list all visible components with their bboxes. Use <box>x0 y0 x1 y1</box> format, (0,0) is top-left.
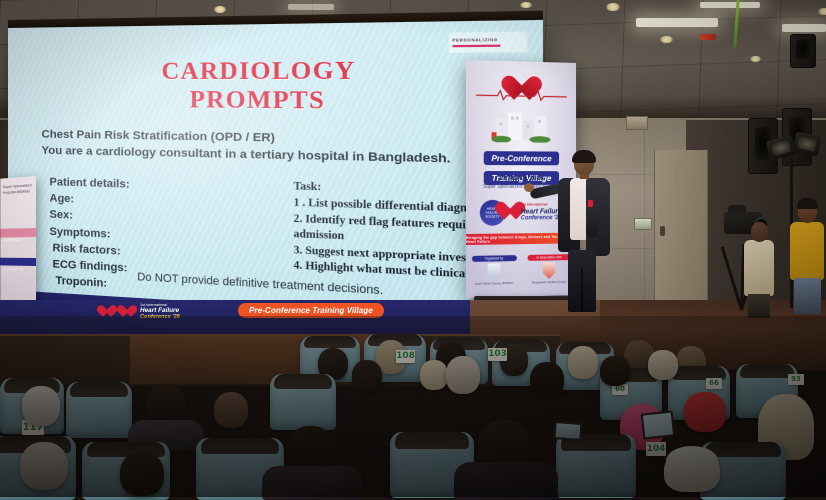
audience-area: 103 108 117 60 66 93 <box>0 316 826 497</box>
ceiling-downlight <box>606 3 620 11</box>
slide-subtitle: Chest Pain Risk Stratification (OPD / ER… <box>42 126 518 169</box>
studio-light-icon <box>792 132 822 157</box>
seat-headrest <box>740 364 795 378</box>
seat-number-label: 104 <box>646 442 666 456</box>
ceiling-downlight <box>818 8 826 15</box>
seat-headrest <box>395 432 469 449</box>
audience-shoulders <box>262 466 362 500</box>
audience-head <box>568 346 598 379</box>
seat-headrest <box>70 382 128 397</box>
ceiling-loudspeaker <box>790 34 816 68</box>
seat-headrest <box>304 336 357 348</box>
ceiling-exit-indicator <box>700 34 716 40</box>
ceiling-downlight <box>214 6 226 13</box>
tripod-leg <box>721 247 743 311</box>
audience-head <box>214 392 248 428</box>
seat-headrest <box>201 438 278 454</box>
slide-title-line2: PROMPTS <box>190 86 326 114</box>
seat-number-label: 103 <box>488 348 507 361</box>
wall-exit-sign <box>634 218 652 230</box>
left-banner-pink-label: Heart Failure <box>0 238 22 242</box>
camera-viewfinder <box>728 205 746 213</box>
audience-head <box>120 452 164 496</box>
audience-shoulders <box>454 462 558 500</box>
footer-caption: Organised by <box>471 255 516 262</box>
hospital-building-icon <box>492 106 552 142</box>
audience-head <box>648 350 678 380</box>
standee-footer-item: Organised by Heart Failure Society, BSMM… <box>471 255 516 286</box>
audience-laptop-screen[interactable] <box>553 421 582 441</box>
audience-head <box>530 362 564 398</box>
wall-vent-grille <box>626 116 648 130</box>
brand-watermark-bar <box>452 45 500 48</box>
ceiling-downlight <box>520 2 532 8</box>
slide-brand-watermark: PERSONALIZING <box>449 32 528 53</box>
audience-head-grey-hair <box>20 442 68 490</box>
seat-headrest <box>705 442 781 457</box>
left-banner-top-text: Super Specialized Hospital BSMMU <box>3 182 36 196</box>
audience-tablet-device[interactable] <box>641 410 676 439</box>
standee-pill-line1: Pre-Conference <box>484 151 560 165</box>
seat[interactable] <box>556 434 636 498</box>
left-banner-blue-bar: Conference '26 <box>0 258 36 266</box>
speaker-hand <box>524 183 534 192</box>
audience-head <box>352 360 382 392</box>
ecg-line-icon <box>476 88 567 102</box>
seat-number-label: 108 <box>396 350 415 363</box>
left-banner-blue-label: Conference '26 <box>0 267 23 271</box>
crew-jeans <box>794 278 821 314</box>
seat[interactable] <box>270 374 336 430</box>
crew-torso <box>744 240 774 296</box>
ceiling-panel-light <box>700 2 760 8</box>
crew-head <box>751 222 768 242</box>
conference-hall-scene: CARDIOLOGY PROMPTS PERSONALIZING Chest P… <box>0 0 826 497</box>
ceiling-downlight <box>750 56 761 62</box>
seat-number-label: 93 <box>788 374 804 385</box>
ceiling-downlight <box>660 36 673 43</box>
heart-icon <box>499 202 520 223</box>
door-handle[interactable] <box>660 226 665 236</box>
speaker-presenter <box>552 152 614 316</box>
left-banner-pink-bar: Heart Failure <box>0 228 36 237</box>
audience-head-hijab <box>446 356 480 394</box>
crew-legs <box>748 294 770 318</box>
speaker-hair <box>572 150 596 163</box>
audience-head-red-hijab <box>684 392 726 432</box>
crew-member-yellow-shirt <box>790 200 824 314</box>
ceiling-panel-light <box>782 24 826 32</box>
brand-watermark-label: PERSONALIZING <box>452 37 523 42</box>
slide-title-line1: CARDIOLOGY <box>161 57 355 85</box>
crew-torso <box>790 222 824 280</box>
slide-title: CARDIOLOGY PROMPTS <box>8 55 543 117</box>
speaker-trousers <box>568 250 596 312</box>
crew-hair <box>797 198 818 209</box>
ceiling-panel-light <box>636 18 718 27</box>
shield-icon <box>488 263 501 280</box>
audience-head-grey-hair <box>22 386 60 426</box>
ceiling-panel-light <box>288 4 334 10</box>
seat-number-label: 66 <box>706 378 722 389</box>
studio-light-icon <box>766 135 796 161</box>
audience-head <box>420 360 448 390</box>
seat[interactable] <box>66 382 132 438</box>
crew-camera-operator <box>744 222 774 314</box>
speaker-badge <box>588 200 593 207</box>
prayer-cap <box>666 446 718 476</box>
audience-head <box>600 356 630 386</box>
seat-headrest <box>274 374 332 389</box>
